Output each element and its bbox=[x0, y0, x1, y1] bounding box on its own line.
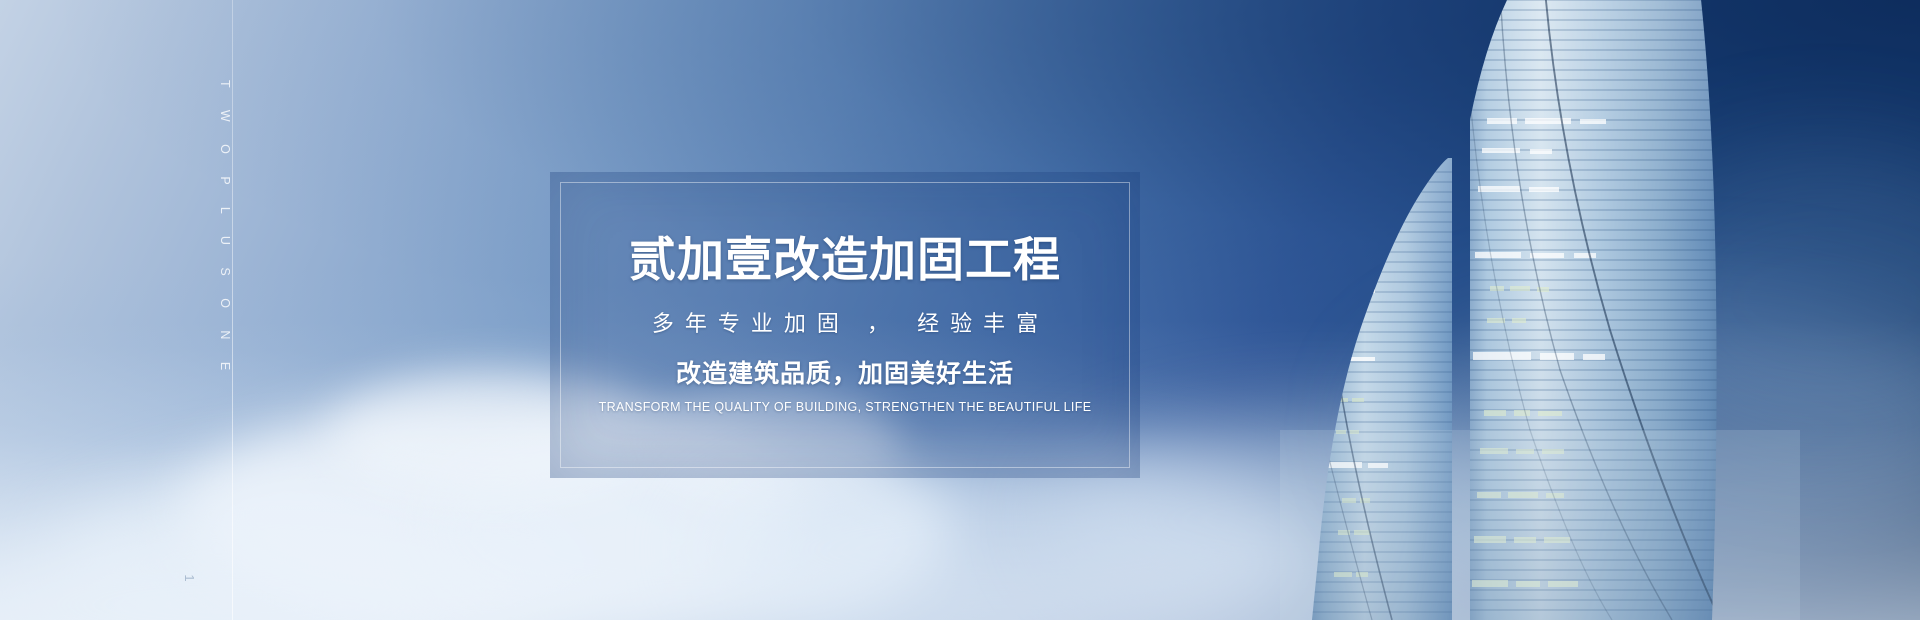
panel-content: 贰加壹改造加固工程 多年专业加固 ， 经验丰富 改造建筑品质，加固美好生活 TR… bbox=[550, 172, 1140, 478]
brand-vertical-text: T W O P L U S O N E bbox=[218, 80, 232, 380]
panel-english-tagline: TRANSFORM THE QUALITY OF BUILDING, STREN… bbox=[599, 401, 1092, 414]
vertical-divider-line bbox=[232, 0, 233, 620]
hero-banner: T W O P L U S O N E 1 贰加壹改造加固工程 多年专业加固 ，… bbox=[0, 0, 1920, 620]
panel-subtitle: 多年专业加固 ， 经验丰富 bbox=[641, 313, 1049, 335]
hero-text-panel: 贰加壹改造加固工程 多年专业加固 ， 经验丰富 改造建筑品质，加固美好生活 TR… bbox=[550, 172, 1140, 478]
panel-slogan: 改造建筑品质，加固美好生活 bbox=[676, 362, 1014, 387]
page-title: 贰加壹改造加固工程 bbox=[629, 236, 1061, 283]
slide-marker: 1 bbox=[177, 567, 201, 589]
